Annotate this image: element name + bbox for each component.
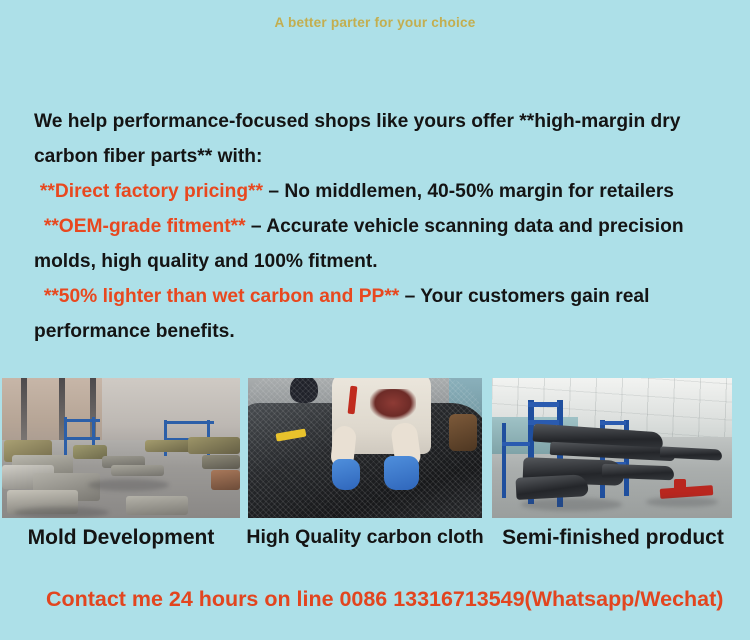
- copy-line-7: performance benefits.: [34, 314, 724, 349]
- body-copy: We help performance-focused shops like y…: [34, 104, 734, 349]
- photo-mold-development: [2, 378, 240, 518]
- copy-line-6: **50% lighter than wet carbon and PP** –…: [34, 279, 724, 314]
- photo-high-quality-carbon-cloth-scene: [248, 378, 482, 518]
- photo-high-quality-carbon-cloth: [248, 378, 482, 518]
- copy-line-5: molds, high quality and 100% fitment.: [34, 244, 724, 279]
- copy-line-7-segment-1: performance benefits.: [34, 320, 235, 342]
- photo-semi-finished-product-scene: [492, 378, 732, 518]
- copy-line-4-segment-2: – Accurate vehicle scanning data and pre…: [246, 215, 684, 237]
- copy-line-2: carbon fiber parts** with:: [34, 139, 724, 174]
- photo-gallery: [0, 378, 750, 518]
- copy-line-3-segment-1: **Direct factory pricing**: [40, 180, 263, 202]
- copy-line-4: **OEM-grade fitment** – Accurate vehicle…: [34, 209, 724, 244]
- photo-captions: Mold Development High Quality carbon clo…: [0, 526, 750, 560]
- contact-line: Contact me 24 hours on line 0086 1331671…: [46, 586, 723, 612]
- photo-mold-development-scene: [2, 378, 240, 518]
- page-title: A better parter for your choice: [11, 14, 739, 30]
- copy-line-1-segment-1: We help performance-focused shops like y…: [34, 110, 680, 132]
- caption-semi-finished-product: Semi-finished product: [492, 526, 734, 550]
- copy-line-6-segment-1: **50% lighter than wet carbon and PP**: [44, 285, 399, 307]
- copy-line-2-segment-1: carbon fiber parts** with:: [34, 145, 262, 167]
- copy-line-1: We help performance-focused shops like y…: [34, 104, 724, 139]
- copy-line-4-segment-1: **OEM-grade fitment**: [44, 215, 246, 237]
- copy-line-6-segment-2: – Your customers gain real: [399, 285, 649, 307]
- photo-semi-finished-product: [492, 378, 732, 518]
- caption-high-quality-carbon-cloth: High Quality carbon cloth: [246, 526, 484, 549]
- promo-banner: A better parter for your choice We help …: [0, 0, 750, 640]
- caption-mold-development: Mold Development: [2, 526, 240, 550]
- copy-line-3-segment-2: – No middlemen, 40-50% margin for retail…: [263, 180, 674, 202]
- copy-line-5-segment-1: molds, high quality and 100% fitment.: [34, 250, 378, 272]
- copy-line-3: **Direct factory pricing** – No middleme…: [34, 174, 724, 209]
